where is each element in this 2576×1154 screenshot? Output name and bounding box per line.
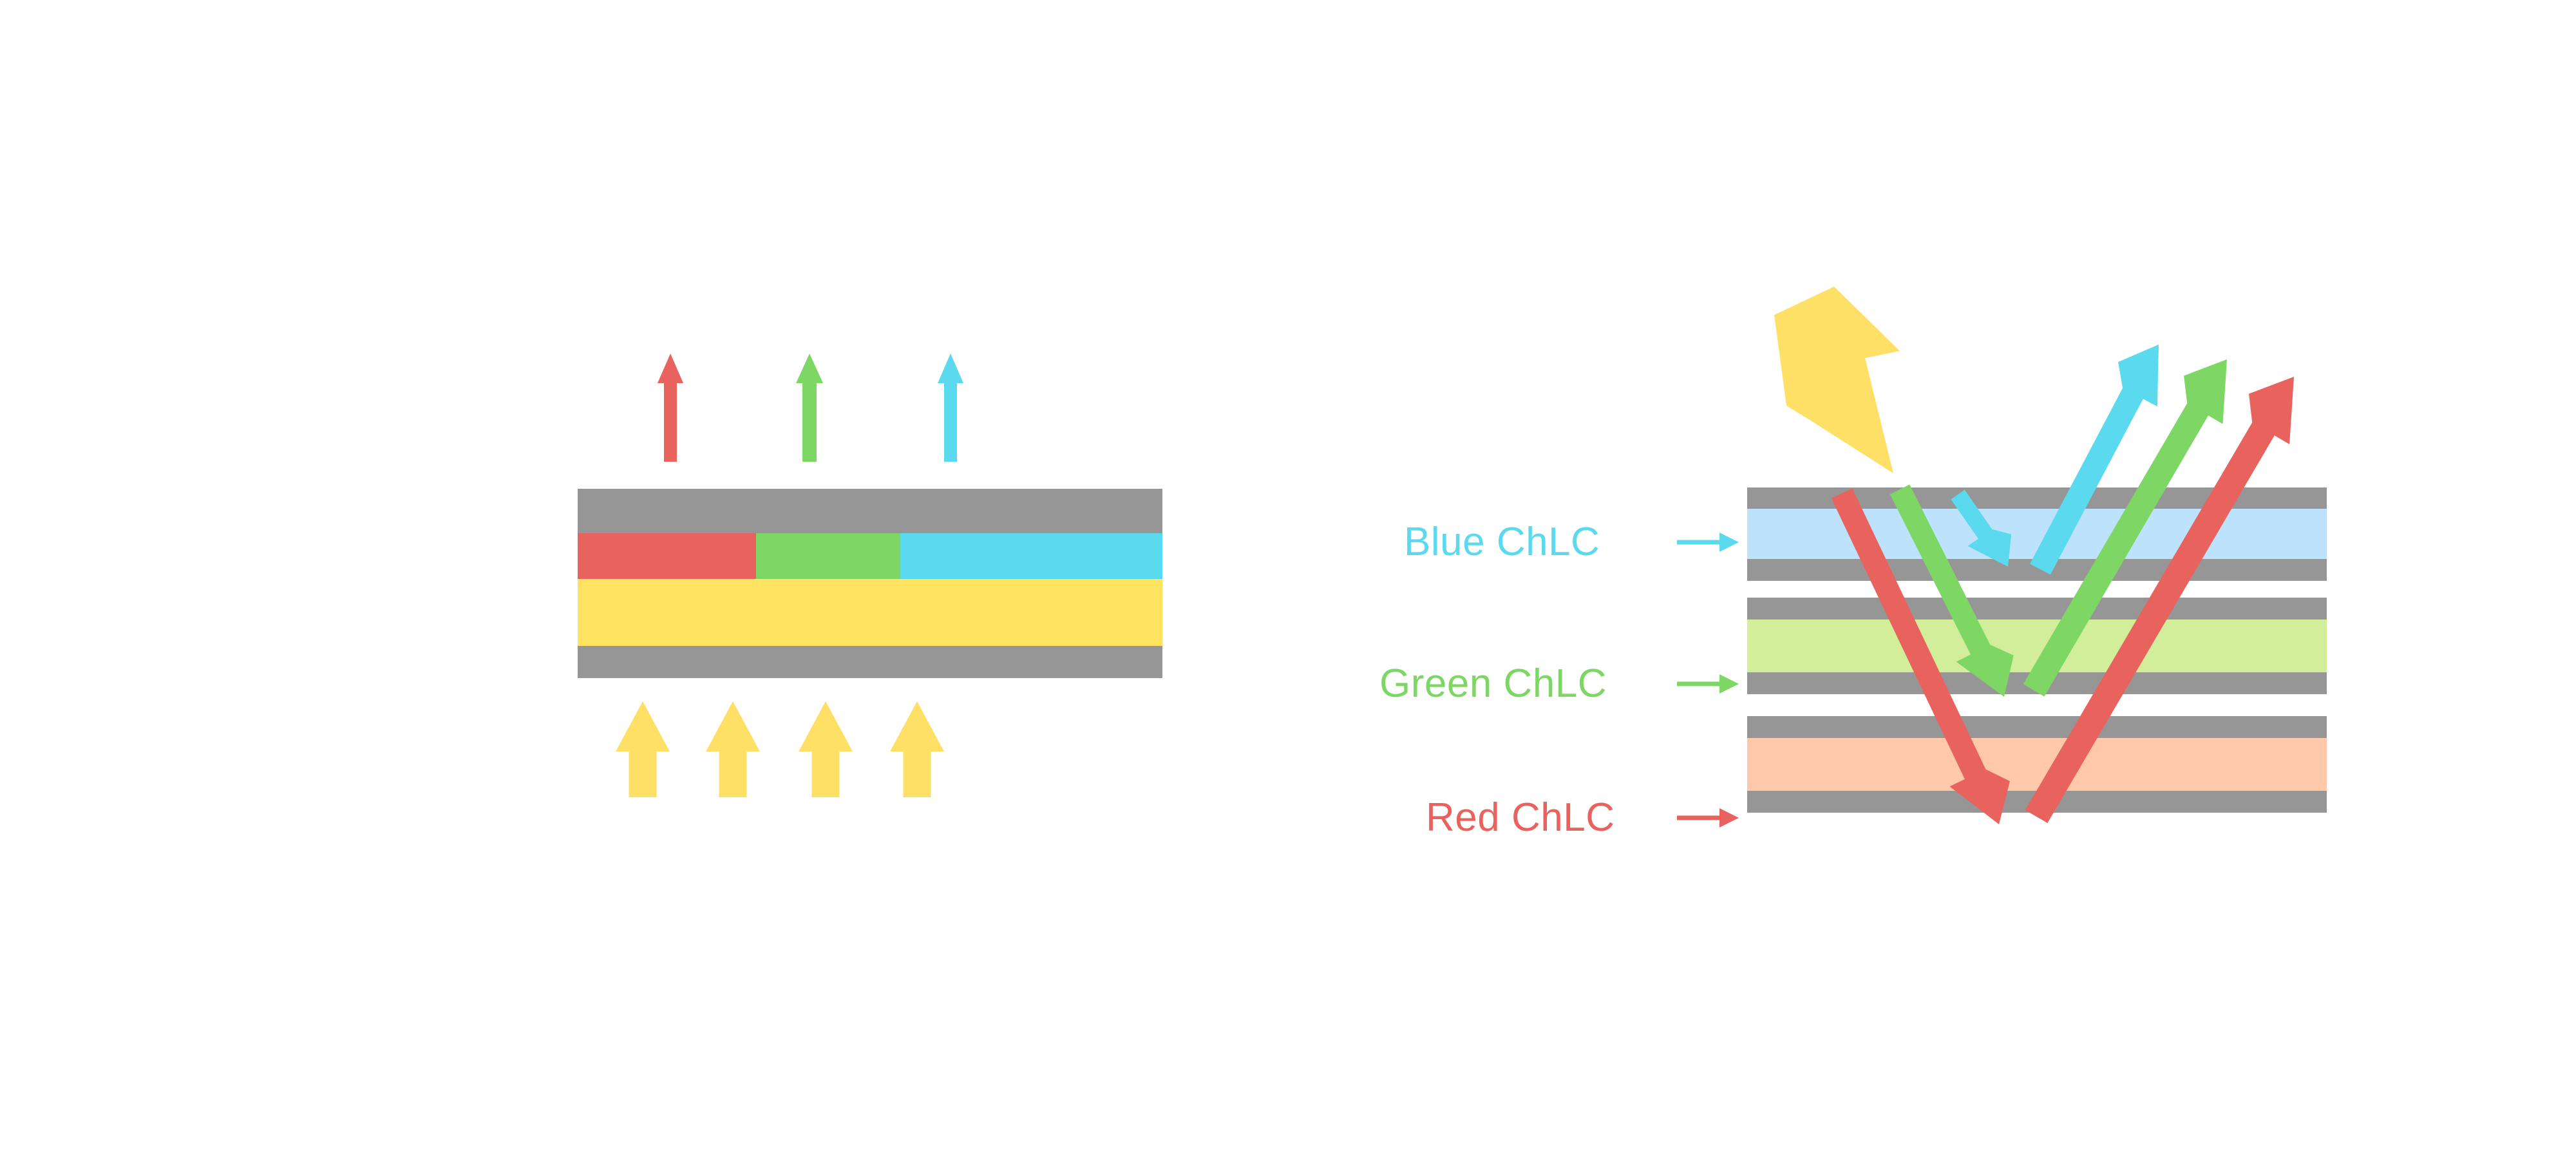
left-red-filter [578, 533, 756, 579]
left-backlight-layer [578, 579, 1162, 646]
right-green-cell-top-electrode [1747, 598, 2327, 620]
left-backlight-4-arrow [890, 701, 944, 797]
left-green-output-arrow [796, 354, 823, 462]
left-green-filter [756, 533, 900, 579]
left-top-electrode [578, 489, 1162, 533]
green-chlc-cell-pointer-icon [1677, 674, 1739, 694]
left-backlight-1-arrow [616, 701, 670, 797]
left-blue-output-arrow [938, 354, 963, 462]
chlc-diagram-svg: Blue ChLCGreen ChLCRed ChLC [0, 0, 2576, 1154]
red-chlc-cell-label: Red ChLC [1426, 795, 1615, 840]
right-red-chlc-layer [1747, 738, 2327, 791]
green-chlc-cell-label: Green ChLC [1379, 661, 1607, 706]
right-red-cell-top-electrode [1747, 716, 2327, 738]
red-chlc-cell-pointer-icon [1677, 808, 1739, 828]
left-backlight-2-arrow [706, 701, 760, 797]
ambient-light-arrow [1774, 287, 1900, 473]
left-backlight-3-arrow [799, 701, 853, 797]
left-bottom-electrode [578, 646, 1162, 678]
diagram-canvas: Blue ChLCGreen ChLCRed ChLC [0, 0, 2576, 1154]
blue-chlc-cell-label: Blue ChLC [1404, 520, 1600, 564]
blue-chlc-cell-pointer-icon [1677, 533, 1739, 552]
left-blue-filter [900, 533, 1162, 579]
left-red-output-arrow [658, 354, 683, 462]
